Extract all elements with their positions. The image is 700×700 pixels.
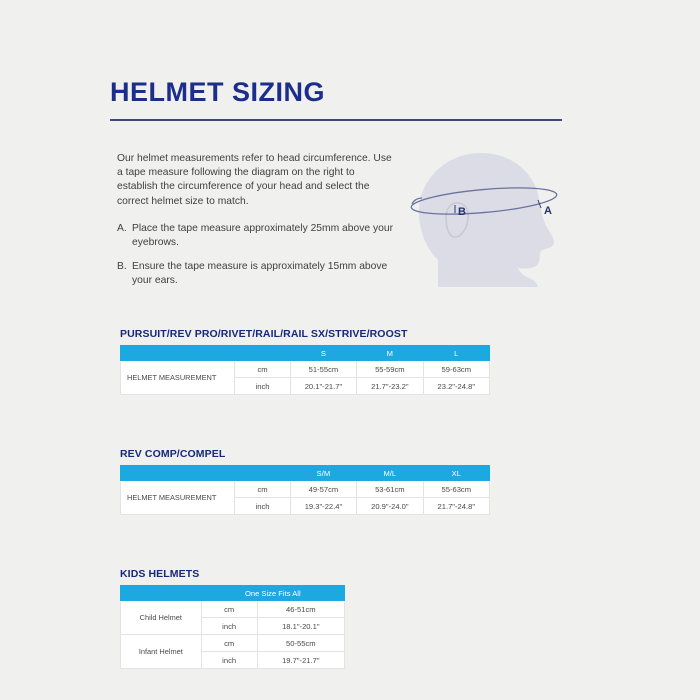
section-heading-kids: KIDS HELMETS — [120, 568, 199, 580]
step-text-a: Place the tape measure approximately 25m… — [132, 222, 397, 250]
table-header-row: S/M M/L XL — [121, 466, 490, 481]
cell-l-inch: 23.2"-24.8" — [423, 378, 489, 395]
row-label-helmet-measurement: HELMET MEASUREMENT — [121, 361, 235, 395]
cell-s-cm: 51-55cm — [290, 361, 356, 378]
header-size-m: M — [357, 346, 423, 361]
unit-cm: cm — [235, 481, 290, 498]
table-row: Child Helmet cm 46-51cm — [121, 601, 345, 618]
unit-inch: inch — [201, 618, 257, 635]
header-size-ml: M/L — [357, 466, 423, 481]
page-title: HELMET SIZING — [110, 78, 562, 106]
cell-sm-inch: 19.3"-22.4" — [290, 498, 356, 515]
cell-m-cm: 55-59cm — [357, 361, 423, 378]
head-silhouette-icon — [419, 153, 554, 287]
unit-inch: inch — [235, 498, 290, 515]
table-pursuit: S M L HELMET MEASUREMENT cm 51-55cm 55-5… — [120, 345, 490, 395]
header-one-size-fits-all: One Size Fits All — [201, 586, 344, 601]
header-size-xl: XL — [423, 466, 489, 481]
cell-s-inch: 20.1"-21.7" — [290, 378, 356, 395]
table-row: HELMET MEASUREMENT cm 51-55cm 55-59cm 59… — [121, 361, 490, 378]
header-blank-2 — [235, 346, 290, 361]
table-kids-helmets: One Size Fits All Child Helmet cm 46-51c… — [120, 585, 345, 669]
cell-xl-cm: 55-63cm — [423, 481, 489, 498]
cell-child-cm: 46-51cm — [257, 601, 344, 618]
table-row: HELMET MEASUREMENT cm 49-57cm 53-61cm 55… — [121, 481, 490, 498]
section-heading-pursuit: PURSUIT/REV PRO/RIVET/RAIL/RAIL SX/STRIV… — [120, 328, 407, 340]
table-header-row: S M L — [121, 346, 490, 361]
table-rev-comp: S/M M/L XL HELMET MEASUREMENT cm 49-57cm… — [120, 465, 490, 515]
row-label-infant-helmet: Infant Helmet — [121, 635, 202, 669]
table-header-row: One Size Fits All — [121, 586, 345, 601]
cell-ml-inch: 20.9"-24.0" — [357, 498, 423, 515]
header-size-l: L — [423, 346, 489, 361]
step-letter-a: A. — [117, 222, 132, 250]
section-heading-revcomp: REV COMP/COMPEL — [120, 448, 225, 460]
header-blank — [121, 586, 202, 601]
unit-inch: inch — [201, 652, 257, 669]
header-size-sm: S/M — [290, 466, 356, 481]
label-b: B — [458, 206, 466, 218]
cell-l-cm: 59-63cm — [423, 361, 489, 378]
cell-infant-inch: 19.7"-21.7" — [257, 652, 344, 669]
intro-paragraph: Our helmet measurements refer to head ci… — [117, 152, 397, 209]
list-item: B. Ensure the tape measure is approximat… — [117, 260, 397, 288]
label-a: A — [544, 205, 552, 217]
title-divider — [110, 119, 562, 121]
intro-block: Our helmet measurements refer to head ci… — [117, 152, 397, 299]
title-block: HELMET SIZING — [110, 78, 562, 121]
row-label-helmet-measurement: HELMET MEASUREMENT — [121, 481, 235, 515]
cell-child-inch: 18.1"-20.1" — [257, 618, 344, 635]
unit-cm: cm — [201, 635, 257, 652]
header-blank-1 — [121, 346, 235, 361]
cell-ml-cm: 53-61cm — [357, 481, 423, 498]
head-measurement-diagram: A B — [398, 142, 588, 287]
header-blank-2 — [235, 466, 290, 481]
unit-cm: cm — [201, 601, 257, 618]
cell-infant-cm: 50-55cm — [257, 635, 344, 652]
measure-steps-list: A. Place the tape measure approximately … — [117, 222, 397, 289]
table-row: Infant Helmet cm 50-55cm — [121, 635, 345, 652]
unit-cm: cm — [235, 361, 290, 378]
header-blank-1 — [121, 466, 235, 481]
step-text-b: Ensure the tape measure is approximately… — [132, 260, 397, 288]
unit-inch: inch — [235, 378, 290, 395]
cell-sm-cm: 49-57cm — [290, 481, 356, 498]
row-label-child-helmet: Child Helmet — [121, 601, 202, 635]
step-letter-b: B. — [117, 260, 132, 288]
list-item: A. Place the tape measure approximately … — [117, 222, 397, 250]
cell-m-inch: 21.7"-23.2" — [357, 378, 423, 395]
header-size-s: S — [290, 346, 356, 361]
cell-xl-inch: 21.7"-24.8" — [423, 498, 489, 515]
helmet-sizing-page: HELMET SIZING Our helmet measurements re… — [0, 0, 700, 700]
